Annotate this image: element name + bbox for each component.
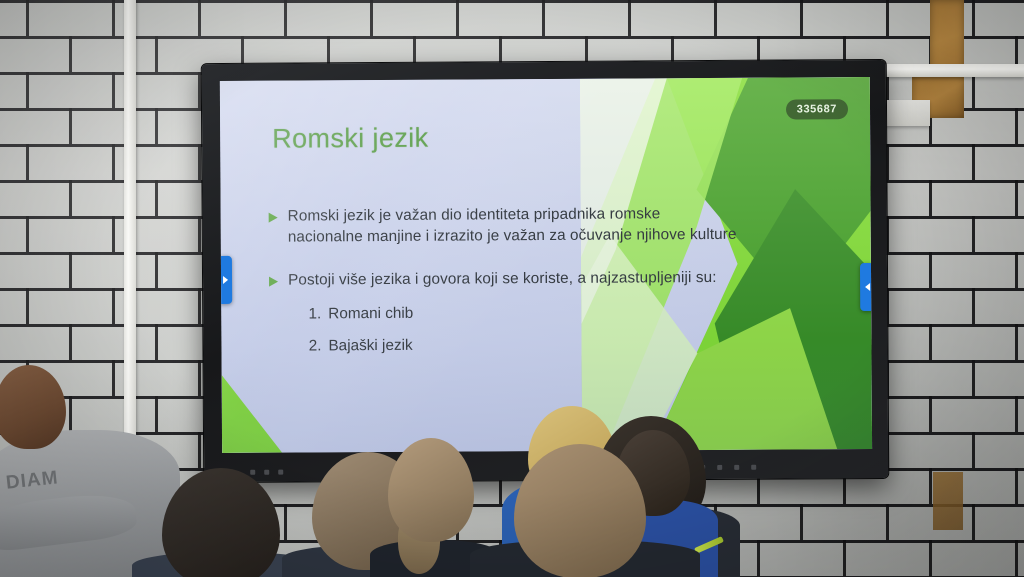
- list-item-number: 2.: [305, 336, 321, 357]
- sidebar-toggle-left[interactable]: [220, 256, 232, 304]
- control-button[interactable]: [751, 465, 756, 470]
- bullet-text: Romski jezik je važan dio identiteta pri…: [288, 203, 739, 248]
- control-button[interactable]: [264, 470, 269, 475]
- triangle-bullet-icon: [269, 277, 278, 287]
- list-item: 2. Bajaški jezik: [305, 334, 739, 357]
- numbered-list: 1. Romani chib 2. Bajaški jezik: [305, 302, 739, 357]
- bullet-item: Romski jezik je važan dio identiteta pri…: [269, 203, 739, 248]
- list-item-label: Romani chib: [328, 304, 413, 325]
- control-button[interactable]: [717, 465, 722, 470]
- list-item-label: Bajaški jezik: [328, 336, 412, 357]
- chevron-right-icon: [865, 283, 870, 291]
- control-button[interactable]: [278, 470, 283, 475]
- bullet-text: Postoji više jezika i govora koji se kor…: [288, 267, 717, 291]
- display-screen[interactable]: 335687 Romski jezik Romski jezik je važa…: [220, 77, 872, 453]
- list-item: 1. Romani chib: [305, 302, 739, 325]
- classroom-photo: 335687 Romski jezik Romski jezik je važa…: [0, 0, 1024, 577]
- bullet-item: Postoji više jezika i govora koji se kor…: [269, 267, 739, 291]
- control-button[interactable]: [734, 465, 739, 470]
- slide-body: Romski jezik je važan dio identiteta pri…: [269, 203, 740, 368]
- sidebar-toggle-right[interactable]: [860, 263, 872, 311]
- slide-corner-accent: [222, 375, 282, 453]
- slide-number-badge: 335687: [786, 99, 848, 119]
- display-controls-left[interactable]: [250, 470, 283, 475]
- exposed-brick-patch-bottom: [933, 472, 963, 530]
- slide-title: Romski jezik: [272, 123, 429, 155]
- presentation-slide: 335687 Romski jezik Romski jezik je važa…: [220, 77, 872, 453]
- control-button[interactable]: [250, 470, 255, 475]
- chevron-left-icon: [223, 276, 228, 284]
- horizontal-conduit: [884, 64, 1024, 77]
- triangle-bullet-icon: [269, 213, 278, 223]
- list-item-number: 1.: [305, 305, 321, 326]
